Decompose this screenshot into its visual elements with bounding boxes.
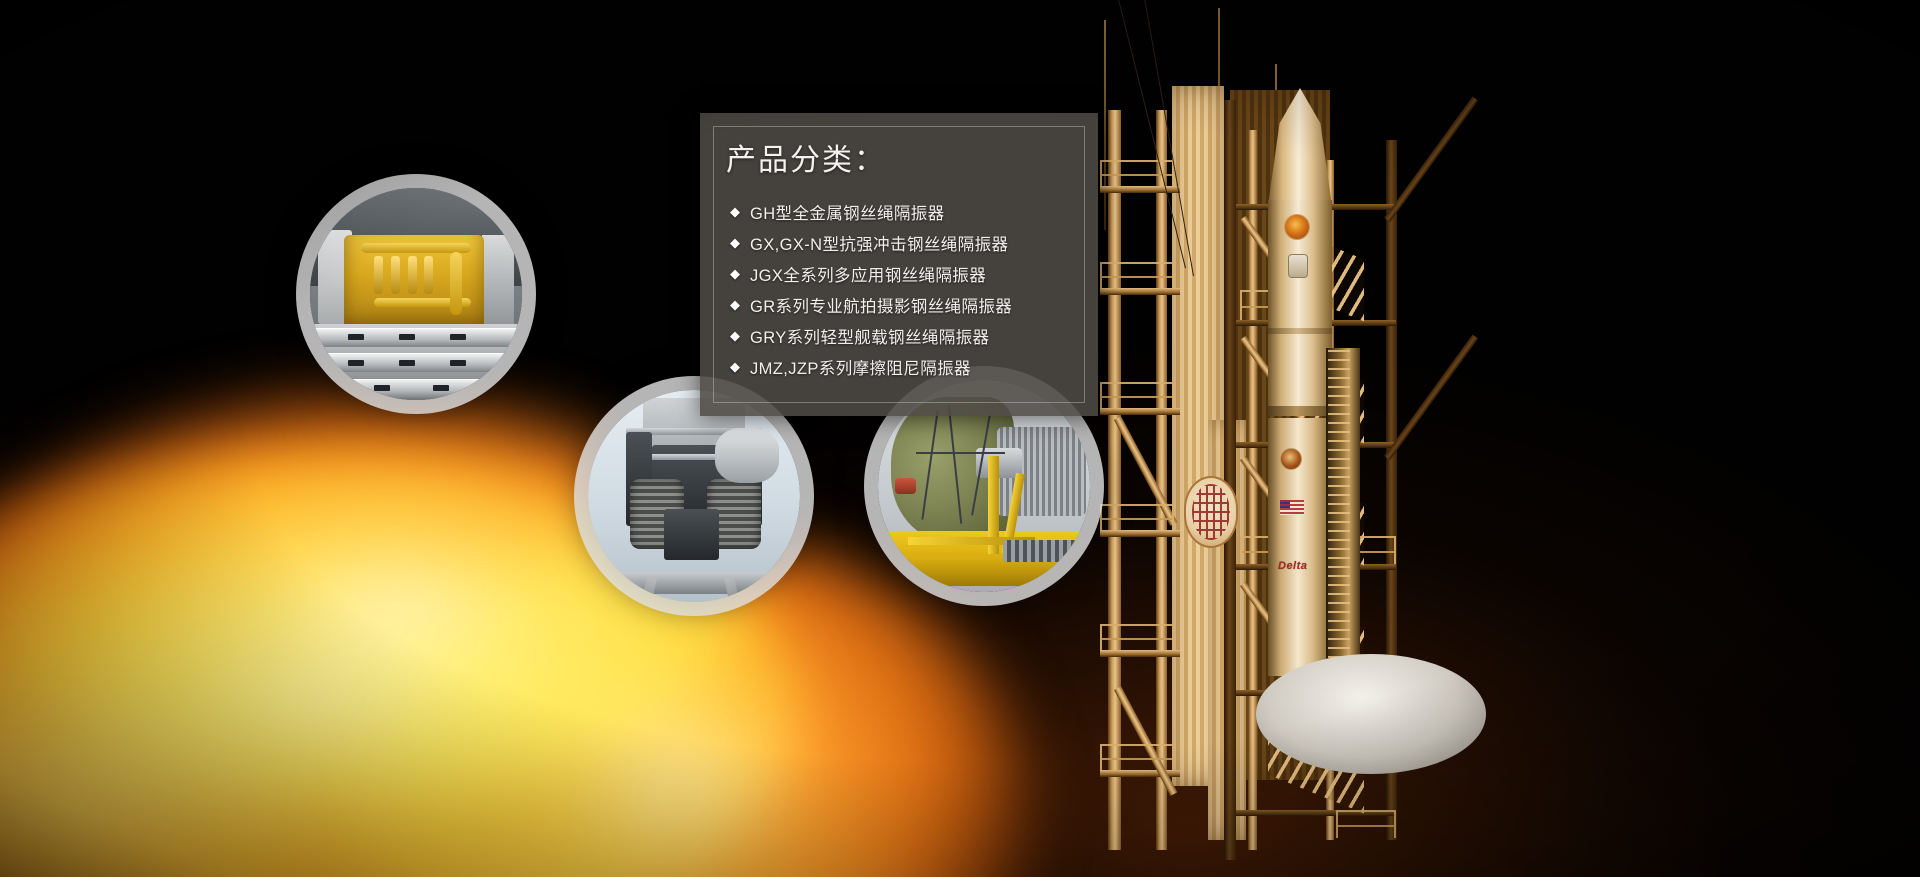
agency-patch-icon <box>1288 254 1308 278</box>
diamond-bullet-icon: ◆ <box>730 298 740 311</box>
hero-banner: Delta <box>0 0 1920 877</box>
mission-patch-icon <box>1284 214 1310 240</box>
diamond-bullet-icon: ◆ <box>730 329 740 342</box>
us-flag-icon <box>1280 500 1304 515</box>
product-category-list: ◆ GH型全金属钢丝绳隔振器 ◆ GX,GX-N型抗强冲击钢丝绳隔振器 ◆ JG… <box>730 196 1080 382</box>
list-item[interactable]: ◆ GRY系列轻型舰载钢丝绳隔振器 <box>730 320 1080 351</box>
list-item-label: JGX全系列多应用钢丝绳隔振器 <box>750 262 986 286</box>
list-item-label: GX,GX-N型抗强冲击钢丝绳隔振器 <box>750 231 1008 255</box>
list-item-label: JMZ,JZP系列摩擦阻尼隔振器 <box>750 355 971 379</box>
list-item[interactable]: ◆ GR系列专业航拍摄影钢丝绳隔振器 <box>730 289 1080 320</box>
diamond-bullet-icon: ◆ <box>730 267 740 280</box>
list-item[interactable]: ◆ JGX全系列多应用钢丝绳隔振器 <box>730 258 1080 289</box>
rocket-brand-label: Delta <box>1278 560 1307 572</box>
rocket-nose-cone <box>1268 88 1332 206</box>
list-item-label: GR系列专业航拍摄影钢丝绳隔振器 <box>750 293 1012 317</box>
tower-logo-icon <box>1184 476 1238 548</box>
panel-title: 产品分类： <box>726 135 886 179</box>
service-ladder <box>1328 350 1350 670</box>
rocket-vehicle: Delta <box>1262 88 1338 688</box>
list-item[interactable]: ◆ GX,GX-N型抗强冲击钢丝绳隔振器 <box>730 227 1080 258</box>
list-item[interactable]: ◆ JMZ,JZP系列摩擦阻尼隔振器 <box>730 351 1080 382</box>
secondary-patch-icon <box>1280 448 1302 470</box>
diamond-bullet-icon: ◆ <box>730 236 740 249</box>
diamond-bullet-icon: ◆ <box>730 205 740 218</box>
product-photo-wire-rope-isolator[interactable] <box>588 390 800 602</box>
list-item-label: GH型全金属钢丝绳隔振器 <box>750 200 945 224</box>
product-category-panel: 产品分类： ◆ GH型全金属钢丝绳隔振器 ◆ GX,GX-N型抗强冲击钢丝绳隔振… <box>700 113 1098 416</box>
list-item-label: GRY系列轻型舰载钢丝绳隔振器 <box>750 324 989 348</box>
launch-mount-dome <box>1256 654 1486 774</box>
diamond-bullet-icon: ◆ <box>730 360 740 373</box>
list-item[interactable]: ◆ GH型全金属钢丝绳隔振器 <box>730 196 1080 227</box>
product-photo-generator[interactable] <box>310 188 522 400</box>
